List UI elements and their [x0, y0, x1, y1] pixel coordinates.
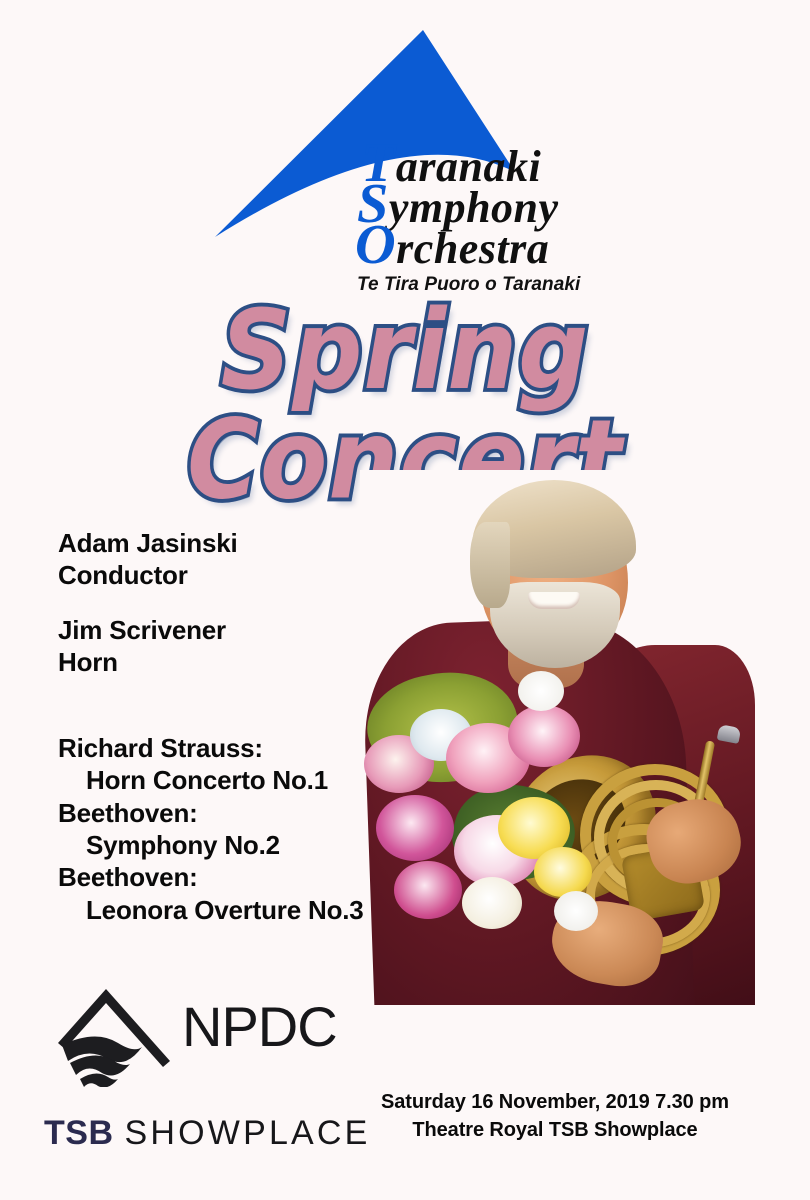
tso-initial-o: O: [355, 214, 396, 276]
credit-conductor: Adam Jasinski Conductor: [58, 528, 238, 592]
tso-line-taranaki: Taranaki: [355, 147, 625, 188]
tsb-label: TSB: [44, 1114, 114, 1152]
soloist-photo: [360, 470, 810, 1005]
event-details: Saturday 16 November, 2019 7.30 pm Theat…: [330, 1088, 780, 1145]
program-composer: Beethoven:: [58, 861, 364, 893]
npdc-mountain-wave-icon: [56, 985, 172, 1087]
event-venue: Theatre Royal TSB Showplace: [330, 1116, 780, 1144]
photo-hair-side: [470, 522, 510, 608]
program-work: Horn Concerto No.1: [58, 764, 364, 796]
program-composer: Richard Strauss:: [58, 732, 364, 764]
concert-poster: Taranaki Symphony Orchestra Te Tira Puor…: [0, 0, 810, 1200]
poster-title: Spring Concert: [0, 296, 810, 436]
tso-rest-orchestra: rchestra: [396, 224, 549, 273]
flower-bouquet: [360, 665, 608, 945]
program-composer: Beethoven:: [58, 797, 364, 829]
program-list: Richard Strauss: Horn Concerto No.1 Beet…: [58, 732, 364, 926]
tso-wordmark: Taranaki Symphony Orchestra: [355, 147, 625, 270]
bouquet-bloom-yellow-2: [534, 847, 592, 897]
npdc-label: NPDC: [182, 999, 337, 1055]
soloist-name: Jim Scrivener: [58, 615, 238, 647]
tsb-showplace-logo: TSBSHOWPLACE: [44, 1116, 371, 1150]
bouquet-gypsophila-2: [554, 891, 598, 931]
photo-smile: [528, 592, 580, 609]
credit-soloist: Jim Scrivener Horn: [58, 615, 238, 679]
horn-mouthpiece: [717, 724, 742, 744]
bouquet-bloom-4: [508, 705, 580, 767]
bouquet-bloom-7: [394, 861, 462, 919]
conductor-name: Adam Jasinski: [58, 528, 238, 560]
bouquet-bloom-5: [376, 795, 454, 861]
program-work: Symphony No.2: [58, 829, 364, 861]
bouquet-gypsophila-1: [518, 671, 564, 711]
npdc-logo: NPDC: [56, 985, 326, 1090]
performer-credits: Adam Jasinski Conductor Jim Scrivener Ho…: [58, 528, 238, 679]
program-work: Leonora Overture No.3: [58, 894, 364, 926]
bouquet-bloom-cream: [462, 877, 522, 929]
conductor-role: Conductor: [58, 560, 238, 592]
soloist-role: Horn: [58, 647, 238, 679]
tso-logo: Taranaki Symphony Orchestra Te Tira Puor…: [205, 22, 625, 287]
event-datetime: Saturday 16 November, 2019 7.30 pm: [330, 1088, 780, 1116]
tso-line-orchestra: Orchestra: [355, 229, 625, 270]
